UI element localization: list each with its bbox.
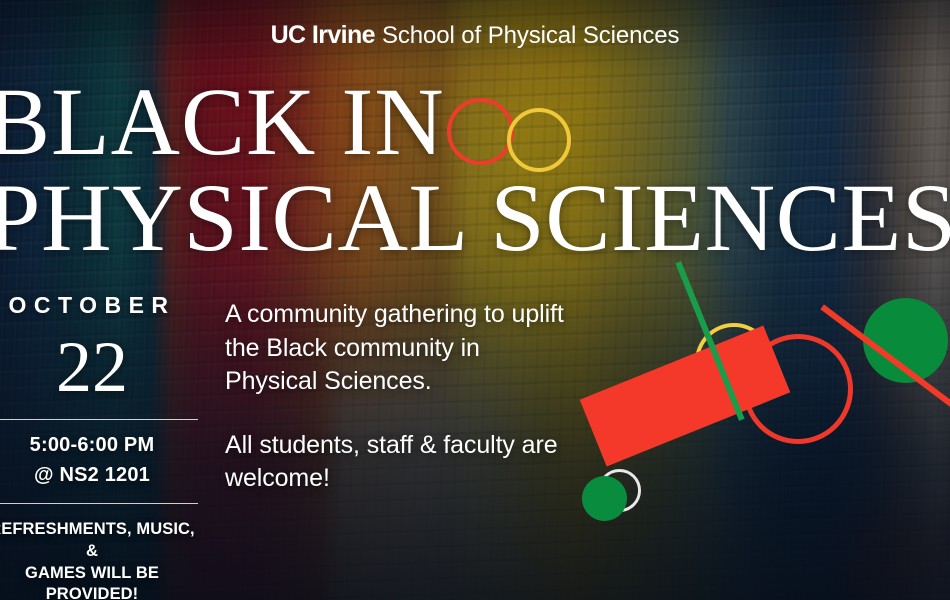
red-rectangle bbox=[580, 326, 791, 467]
divider-top bbox=[0, 419, 198, 420]
title-ring-red bbox=[447, 98, 514, 165]
divider-bottom bbox=[0, 503, 198, 504]
description-paragraph-2: All students, staff & faculty are welcom… bbox=[225, 429, 575, 496]
dot-green-small bbox=[582, 476, 627, 521]
school-name-label: School of Physical Sciences bbox=[382, 22, 679, 49]
event-day: 22 bbox=[0, 331, 198, 403]
uci-wordmark: UC Irvine bbox=[271, 21, 375, 49]
uci-brand-header: UC IrvineSchool of Physical Sciences bbox=[0, 21, 950, 50]
event-details-column: OCTOBER 22 5:00-6:00 PM @ NS2 1201 REFRE… bbox=[0, 292, 198, 600]
perks-line-2: GAMES WILL BE PROVIDED! bbox=[0, 563, 198, 600]
description-paragraph-1: A community gathering to uplift the Blac… bbox=[225, 298, 575, 399]
title-ring-yellow bbox=[507, 108, 571, 172]
perks-line-1: REFRESHMENTS, MUSIC, & bbox=[0, 519, 198, 563]
event-month: OCTOBER bbox=[0, 292, 198, 319]
event-location: @ NS2 1201 bbox=[0, 464, 198, 487]
event-description: A community gathering to uplift the Blac… bbox=[225, 298, 575, 496]
event-perks-note: REFRESHMENTS, MUSIC, & GAMES WILL BE PRO… bbox=[0, 519, 198, 600]
event-time: 5:00-6:00 PM bbox=[0, 434, 198, 457]
event-poster: UC IrvineSchool of Physical Sciences BLA… bbox=[0, 0, 950, 600]
